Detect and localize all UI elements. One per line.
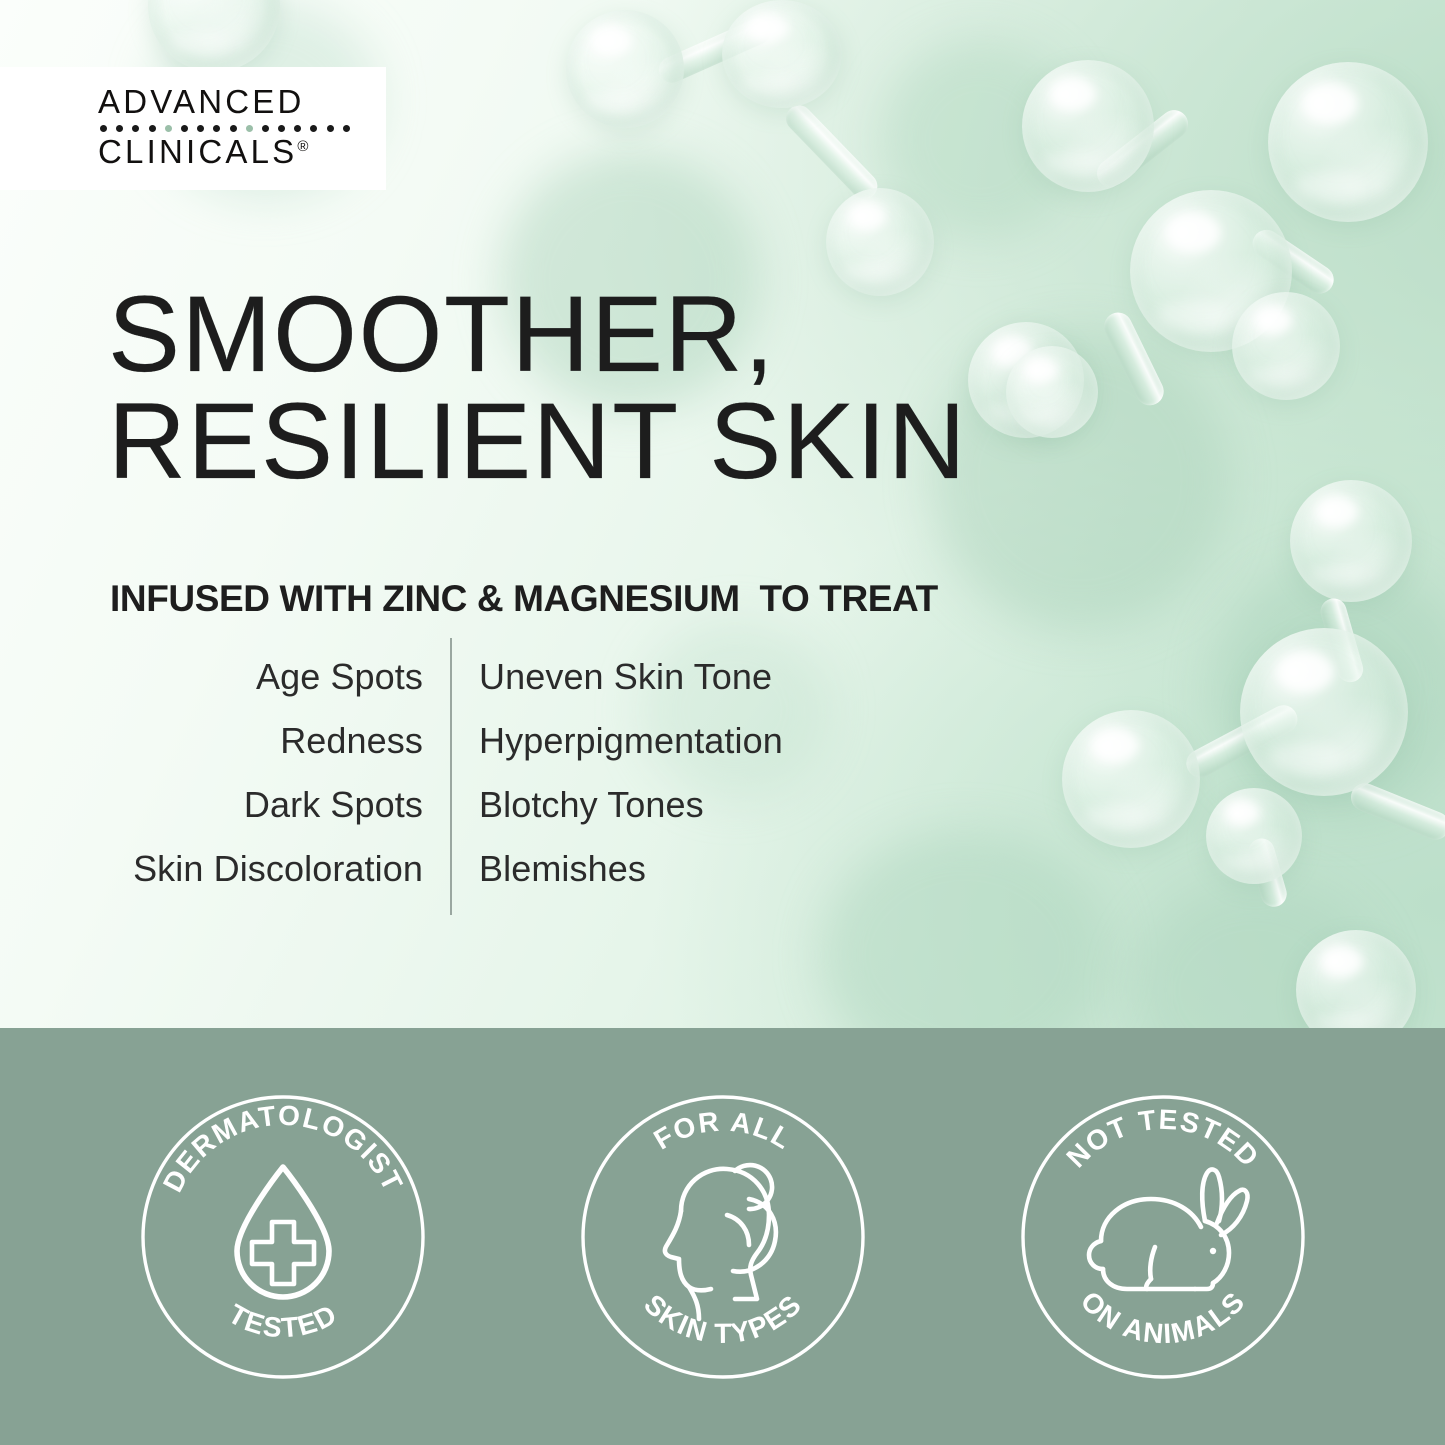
benefit-item: Redness [95, 709, 423, 773]
benefit-item: Blemishes [479, 837, 783, 901]
benefits-divider [450, 638, 452, 915]
molecule-sphere [566, 10, 684, 128]
badge-dermatologist-tested: DERMATOLOGIST TESTED [137, 1091, 429, 1383]
benefit-item: Hyperpigmentation [479, 709, 783, 773]
badge-bottom-textpath: TESTED [223, 1297, 342, 1343]
product-marketing-image: ADVANCED CLINICALS® SMOOTHER, RESILIENT … [0, 0, 1445, 1445]
badge-top-textpath: DERMATOLOGIST [156, 1099, 408, 1196]
benefits-column-left: Age Spots Redness Dark Spots Skin Discol… [95, 645, 451, 901]
registered-trademark-icon: ® [297, 138, 308, 155]
molecule-sphere [1240, 628, 1408, 796]
badge-top-text: DERMATOLOGIST [156, 1099, 408, 1196]
bokeh-blob [820, 830, 1110, 1028]
badge-bottom-text: ON ANIMALS [1074, 1285, 1251, 1349]
badge-top-text: NOT TESTED [1060, 1103, 1265, 1173]
molecule-sphere [722, 0, 842, 108]
benefits-column-right: Uneven Skin Tone Hyperpigmentation Blotc… [451, 645, 783, 901]
badge-bottom-textpath: SKIN TYPES [638, 1288, 808, 1349]
badge-bottom-textpath: ON ANIMALS [1074, 1285, 1251, 1349]
brand-name-line1: ADVANCED [98, 85, 350, 120]
woman-face-profile-icon [664, 1165, 775, 1319]
molecule-sphere [1290, 480, 1412, 602]
badge-top-text: FOR ALL [648, 1105, 797, 1155]
logo-dot-divider [100, 125, 350, 132]
benefit-item: Skin Discoloration [95, 837, 423, 901]
badge-bottom-text: SKIN TYPES [638, 1288, 808, 1349]
hero-panel: ADVANCED CLINICALS® SMOOTHER, RESILIENT … [0, 0, 1445, 1028]
subheadline: INFUSED WITH ZINC & MAGNESIUM TO TREAT [110, 578, 938, 620]
headline-line-1: SMOOTHER, [108, 281, 1158, 388]
badge-bottom-text: TESTED [223, 1297, 342, 1343]
droplet-with-medical-cross-icon [237, 1167, 329, 1297]
molecule-sphere [1062, 710, 1200, 848]
brand-logo: ADVANCED CLINICALS® [0, 67, 386, 190]
brand-name-line2-text: CLINICALS [98, 133, 297, 170]
benefits-list: Age Spots Redness Dark Spots Skin Discol… [95, 645, 783, 901]
molecule-sphere [1022, 60, 1154, 192]
badge-for-all-skin-types: FOR ALL SKIN TYPES [577, 1091, 869, 1383]
badge-top-textpath: FOR ALL [648, 1105, 797, 1155]
molecule-sphere [826, 188, 934, 296]
trust-badge-band: DERMATOLOGIST TESTED FOR [0, 1028, 1445, 1445]
molecule-sphere [1232, 292, 1340, 400]
benefit-item: Age Spots [95, 645, 423, 709]
rabbit-icon [1089, 1169, 1248, 1288]
molecule-sphere [1268, 62, 1428, 222]
headline-line-2: RESILIENT SKIN [108, 388, 1158, 495]
brand-name-line2: CLINICALS® [98, 135, 350, 170]
benefit-item: Uneven Skin Tone [479, 645, 783, 709]
benefit-item: Dark Spots [95, 773, 423, 837]
molecule-sphere [1206, 788, 1302, 884]
badge-top-textpath: NOT TESTED [1060, 1103, 1265, 1173]
benefit-item: Blotchy Tones [479, 773, 783, 837]
headline: SMOOTHER, RESILIENT SKIN [108, 281, 1158, 495]
badge-not-tested-on-animals: NOT TESTED ON ANIMALS [1017, 1091, 1309, 1383]
